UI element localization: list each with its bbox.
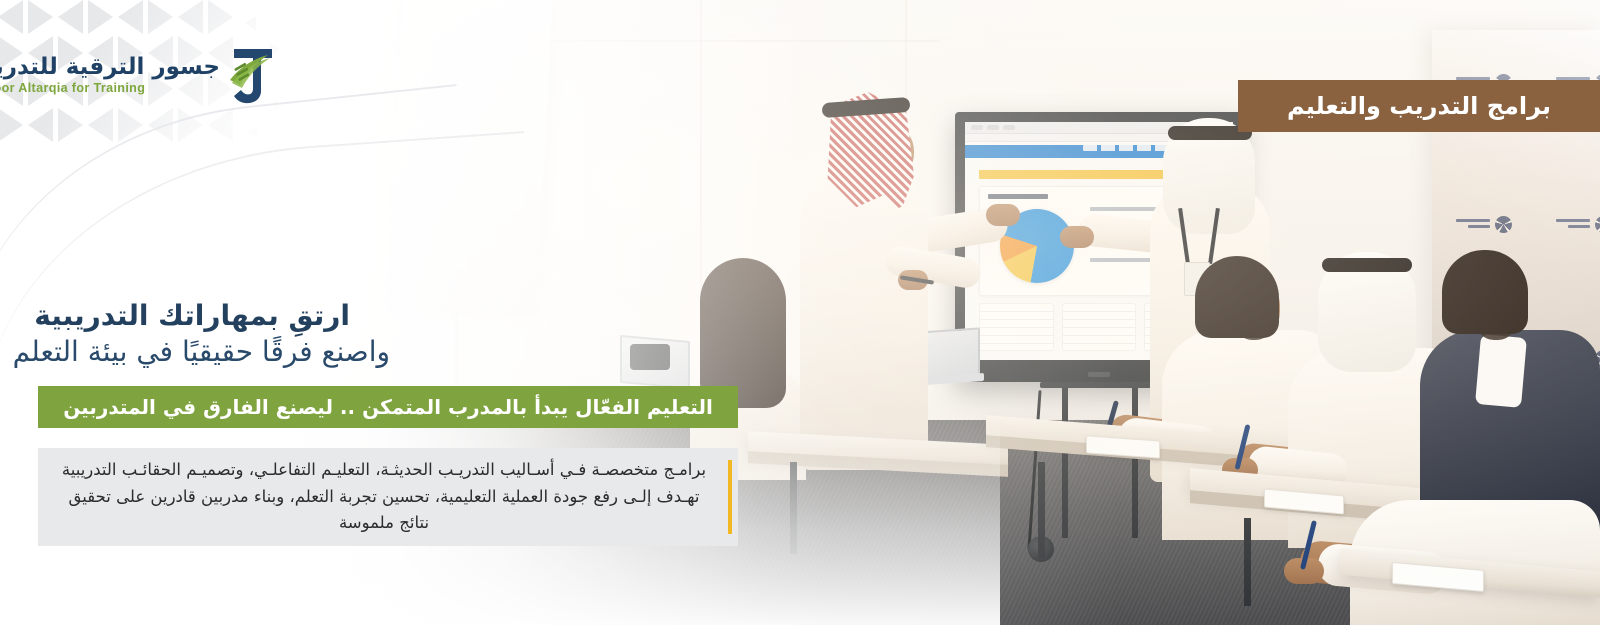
description-panel: برامـج متخصصـة فـي أسـاليب التدريـب الحد… [38,448,738,546]
brand-logo[interactable]: جسور الترقية للتدريب Jusoor Altarqia for… [50,45,282,107]
jusoor-j-leaf-logo-icon [228,47,282,105]
programs-ribbon-label: برامج التدريب والتعليم [1287,92,1551,120]
headline-line-one: ارتقِ بمهاراتك التدريبية [30,298,350,334]
programs-ribbon-banner: برامج التدريب والتعليم [1238,80,1600,132]
hero-banner: جسور الترقية للتدريب Jusoor Altarqia for… [0,0,1600,625]
tagline-green-bar: التعليم الفعّال يبدأ بالمدرب المتمكن .. … [38,386,738,428]
brand-name-arabic: جسور الترقية للتدريب [0,55,220,79]
description-text: برامـج متخصصـة فـي أسـاليب التدريـب الحد… [56,457,712,537]
tagline-text: التعليم الفعّال يبدأ بالمدرب المتمكن .. … [63,395,713,419]
hero-headline: ارتقِ بمهاراتك التدريبية واصنع فرقًا حقي… [30,298,350,371]
headline-line-two: واصنع فرقًا حقيقيًا في بيئة التعلم [30,334,390,370]
brand-logo-text: جسور الترقية للتدريب Jusoor Altarqia for… [0,55,220,96]
brand-name-english: Jusoor Altarqia for Training [0,81,145,95]
gold-accent-bar [728,460,732,534]
